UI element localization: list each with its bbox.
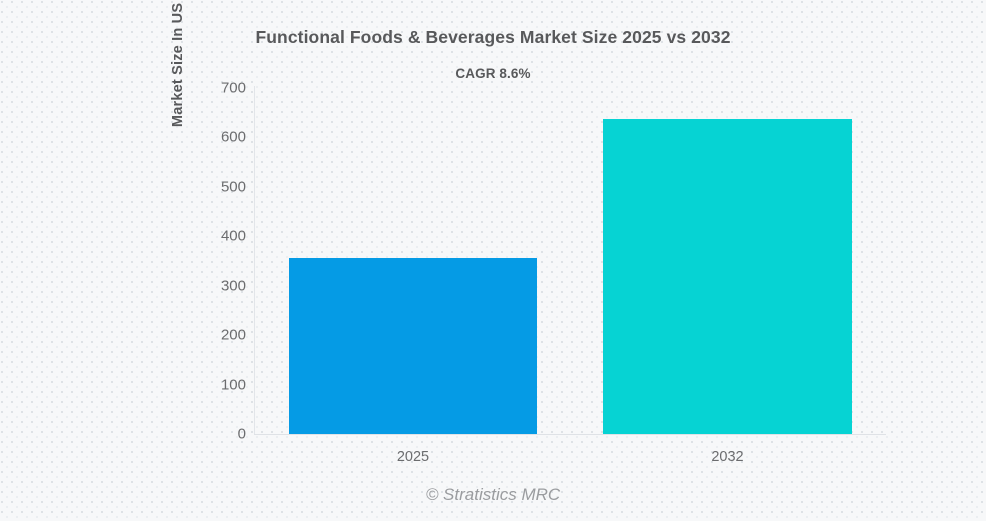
x-axis-tick: 2025 [397, 450, 429, 465]
y-axis-tick: 400 [194, 229, 246, 244]
x-axis-tick: 2032 [711, 450, 743, 465]
y-axis-tick: 300 [194, 278, 246, 293]
chart-container: Functional Foods & Beverages Market Size… [0, 0, 986, 521]
y-axis-tick: 500 [194, 179, 246, 194]
y-axis-tick-labels: 0100200300400500600700 [190, 88, 246, 434]
y-axis-tick: 700 [194, 81, 246, 96]
y-axis-tick: 100 [194, 377, 246, 392]
y-axis-title: Market Size In US $BN [166, 0, 190, 166]
plot-area [255, 88, 885, 434]
bar-2025 [289, 258, 537, 434]
y-axis-tick: 0 [194, 427, 246, 442]
chart-subtitle-cagr: CAGR 8.6% [0, 66, 986, 81]
y-axis-tick: 600 [194, 130, 246, 145]
bar-2032 [603, 119, 852, 434]
y-axis-tick: 200 [194, 328, 246, 343]
x-axis-tick-labels: 20252032 [255, 450, 885, 472]
x-axis-line [254, 434, 886, 435]
chart-title: Functional Foods & Beverages Market Size… [0, 27, 986, 48]
watermark-credit: © Stratistics MRC [0, 485, 986, 505]
